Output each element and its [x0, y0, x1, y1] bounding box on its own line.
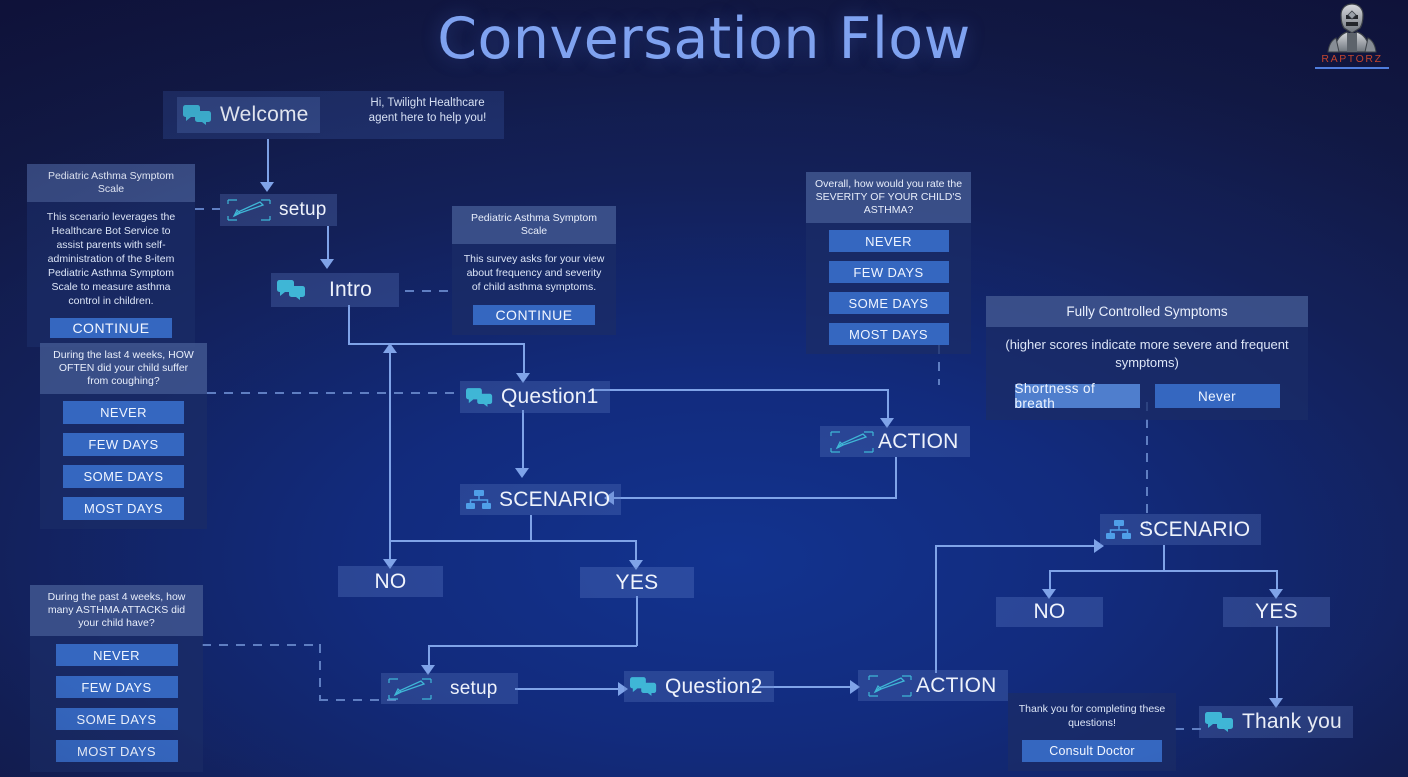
node-question2[interactable]: Question2 [624, 671, 774, 702]
raptorz-logo: RAPTORZ [1306, 2, 1398, 74]
node-scenario-left[interactable]: SCENARIO [460, 484, 621, 515]
connector-yes-setup [428, 645, 637, 647]
option-never[interactable]: NEVER [63, 401, 184, 424]
node-label: Thank you [1235, 710, 1344, 734]
card-survey-intro: Pediatric Asthma Symptom Scale This surv… [452, 206, 616, 335]
consult-doctor-button[interactable]: Consult Doctor [1022, 740, 1162, 762]
connector-scenario-bar [390, 540, 637, 542]
connector-question1-action [590, 389, 888, 391]
connector-setup-intro [327, 226, 329, 261]
dashed-link-attacks-card [202, 644, 320, 646]
option-most-days[interactable]: MOST DAYS [63, 497, 184, 520]
arrowhead [515, 468, 529, 478]
connector-action-up [935, 545, 937, 673]
node-label: YES [616, 571, 659, 595]
option-few-days[interactable]: FEW DAYS [63, 433, 184, 456]
connector-no-loopback [389, 352, 391, 566]
option-never[interactable]: NEVER [56, 644, 178, 666]
connector-setup-question2 [515, 688, 621, 690]
dashed-link-scenario-card [195, 208, 220, 210]
option-shortness-of-breath[interactable]: Shortness of breath [1015, 384, 1140, 408]
connector-scenario-split [530, 515, 532, 541]
node-no-right[interactable]: NO [996, 597, 1103, 627]
option-list: NEVER FEW DAYS SOME DAYS MOST DAYS [40, 394, 207, 529]
chat-bubbles-icon [277, 280, 307, 300]
connector-scenario-right-split [1163, 545, 1165, 571]
card-intro-scenario: Pediatric Asthma Symptom Scale This scen… [27, 164, 195, 347]
option-list: NEVER FEW DAYS SOME DAYS MOST DAYS [30, 636, 203, 772]
node-label: ACTION [878, 430, 961, 454]
card-attacks-question: During the past 4 weeks, how many ASTHMA… [30, 585, 203, 772]
option-never[interactable]: NEVER [829, 230, 949, 252]
sitemap-icon [1106, 519, 1132, 541]
card-title: Fully Controlled Symptoms [986, 296, 1308, 327]
logo-underline [1315, 67, 1389, 69]
page-title: Conversation Flow [0, 6, 1408, 72]
logo-text: RAPTORZ [1306, 53, 1398, 65]
node-label: NO [1033, 600, 1065, 624]
arrowhead [320, 259, 334, 269]
chat-bubbles-icon [1205, 712, 1235, 732]
card-body: This scenario leverages the Healthcare B… [27, 202, 195, 312]
dashed-link-coughing-card [207, 392, 459, 394]
card-controlled-symptoms: Fully Controlled Symptoms (higher scores… [986, 296, 1308, 420]
connector-yes-down [636, 596, 638, 646]
node-label: setup [272, 199, 328, 221]
pen-icon [864, 673, 916, 699]
option-list: NEVER FEW DAYS SOME DAYS MOST DAYS [806, 223, 971, 354]
option-never[interactable]: Never [1155, 384, 1280, 408]
node-yes-left[interactable]: YES [580, 567, 694, 598]
node-action-bottom[interactable]: ACTION [858, 670, 1008, 701]
arrowhead [383, 343, 397, 353]
option-some-days[interactable]: SOME DAYS [829, 292, 949, 314]
card-title: During the past 4 weeks, how many ASTHMA… [30, 585, 203, 636]
continue-button[interactable]: CONTINUE [50, 318, 172, 338]
card-body: Thank you for completing these questions… [1008, 693, 1176, 732]
welcome-message: Hi, Twilight Healthcare agent here to he… [350, 96, 505, 126]
node-label: NO [374, 570, 406, 594]
pen-icon [826, 429, 878, 455]
node-intro[interactable]: Intro [271, 273, 399, 307]
dashed-link-thanks-card [1175, 728, 1202, 730]
pen-icon [226, 197, 272, 223]
node-question1[interactable]: Question1 [460, 381, 610, 413]
node-label: SCENARIO [1132, 518, 1252, 542]
option-some-days[interactable]: SOME DAYS [56, 708, 178, 730]
node-label: Question2 [658, 675, 765, 699]
connector-intro-right [348, 343, 524, 345]
knight-helmet-icon [1320, 2, 1384, 54]
option-some-days[interactable]: SOME DAYS [63, 465, 184, 488]
dashed-link-survey-card [405, 290, 452, 292]
connector-to-question1 [523, 343, 525, 376]
chat-bubbles-icon [466, 388, 494, 407]
pen-icon [387, 676, 433, 702]
node-label: Intro [307, 278, 390, 302]
node-no-left[interactable]: NO [338, 566, 443, 597]
node-label: YES [1255, 600, 1298, 624]
card-coughing-question: During the last 4 weeks, HOW OFTEN did y… [40, 343, 207, 529]
option-most-days[interactable]: MOST DAYS [829, 323, 949, 345]
connector-down-action [887, 389, 889, 421]
option-most-days[interactable]: MOST DAYS [56, 740, 178, 762]
conversation-flow-diagram: Conversation Flow RAPTORZ [0, 0, 1408, 777]
card-thanks: Thank you for completing these questions… [1008, 693, 1176, 771]
chat-bubbles-icon [630, 677, 658, 696]
sitemap-icon [466, 489, 492, 511]
dashed-link-attacks-card-v [319, 644, 321, 700]
card-body: This survey asks for your view about fre… [452, 244, 616, 298]
node-label: SCENARIO [492, 488, 612, 512]
option-few-days[interactable]: FEW DAYS [829, 261, 949, 283]
card-severity-question: Overall, how would you rate the SEVERITY… [806, 172, 971, 354]
node-welcome[interactable]: Welcome [177, 97, 320, 133]
card-title: Pediatric Asthma Symptom Scale [452, 206, 616, 244]
card-title: During the last 4 weeks, HOW OFTEN did y… [40, 343, 207, 394]
connector-action-scenario-right [935, 545, 1098, 547]
dashed-link-controlled-card [1146, 402, 1148, 526]
node-setup-top[interactable]: setup [220, 194, 337, 226]
node-label: ACTION [916, 674, 999, 698]
card-title: Pediatric Asthma Symptom Scale [27, 164, 195, 202]
arrowhead [260, 182, 274, 192]
connector-yes-thankyou [1276, 626, 1278, 701]
chat-bubbles-icon [183, 105, 213, 125]
node-setup-bottom[interactable]: setup [381, 673, 518, 704]
card-body: (higher scores indicate more severe and … [986, 327, 1308, 378]
node-scenario-right[interactable]: SCENARIO [1100, 514, 1261, 545]
connector-action-scenario [612, 497, 897, 499]
node-yes-right[interactable]: YES [1223, 597, 1330, 627]
connector-welcome-setup [267, 139, 269, 184]
node-label: Question1 [494, 385, 601, 409]
connector-question1-scenario [522, 410, 524, 470]
node-label: setup [433, 678, 509, 700]
connector-intro-down [348, 305, 350, 344]
continue-button[interactable]: CONTINUE [473, 305, 595, 325]
connector-action-down [895, 457, 897, 499]
option-row: Shortness of breath Never [986, 378, 1308, 420]
node-action-top[interactable]: ACTION [820, 426, 970, 457]
node-thankyou[interactable]: Thank you [1199, 706, 1353, 738]
card-title: Overall, how would you rate the SEVERITY… [806, 172, 971, 223]
option-few-days[interactable]: FEW DAYS [56, 676, 178, 698]
node-label: Welcome [213, 103, 311, 127]
connector-scenario-right-bar [1049, 570, 1277, 572]
